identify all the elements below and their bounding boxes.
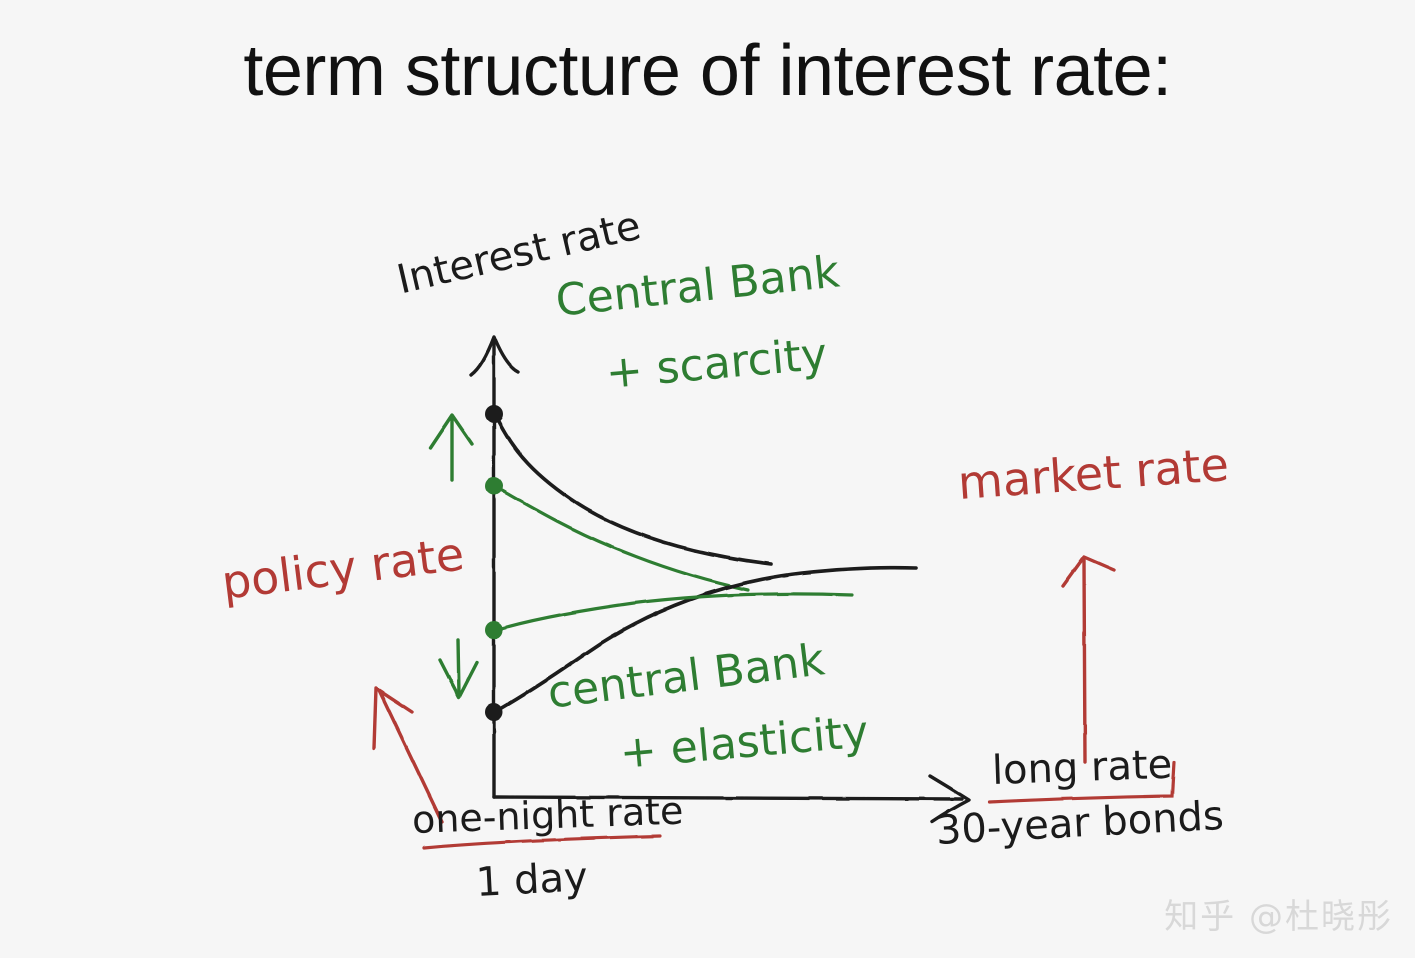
hand-drawn-chart: [0, 0, 1415, 958]
policy-rate-arrows: [430, 415, 477, 697]
low-green-dot: [485, 621, 503, 639]
low-policy-rate-dot: [485, 703, 503, 721]
watermark: 知乎 @杜晓彤: [1164, 889, 1393, 938]
high-policy-rate-dot: [485, 405, 503, 423]
chart-axes: [471, 337, 969, 822]
high-green-dot: [485, 477, 503, 495]
long-rate-underline: [990, 762, 1174, 802]
policy-rate-up-arrow: [430, 415, 472, 480]
curve-normal-green: [496, 594, 852, 630]
curve-inverted-black: [495, 414, 771, 564]
market-rate-pointer-arrow: [1063, 557, 1114, 762]
red-underlines: [424, 762, 1174, 848]
yield-curves: [495, 414, 916, 712]
policy-rate-pointer-arrow: [374, 688, 442, 822]
curve-normal-black: [495, 568, 916, 712]
x-axis-line: [494, 797, 962, 799]
curve-inverted-green: [496, 487, 748, 590]
whiteboard-page: term structure of interest rate:: [0, 0, 1415, 958]
policy-rate-down-arrow: [440, 640, 477, 697]
red-pointer-arrows: [374, 557, 1114, 822]
one-night-rate-underline: [424, 836, 660, 848]
